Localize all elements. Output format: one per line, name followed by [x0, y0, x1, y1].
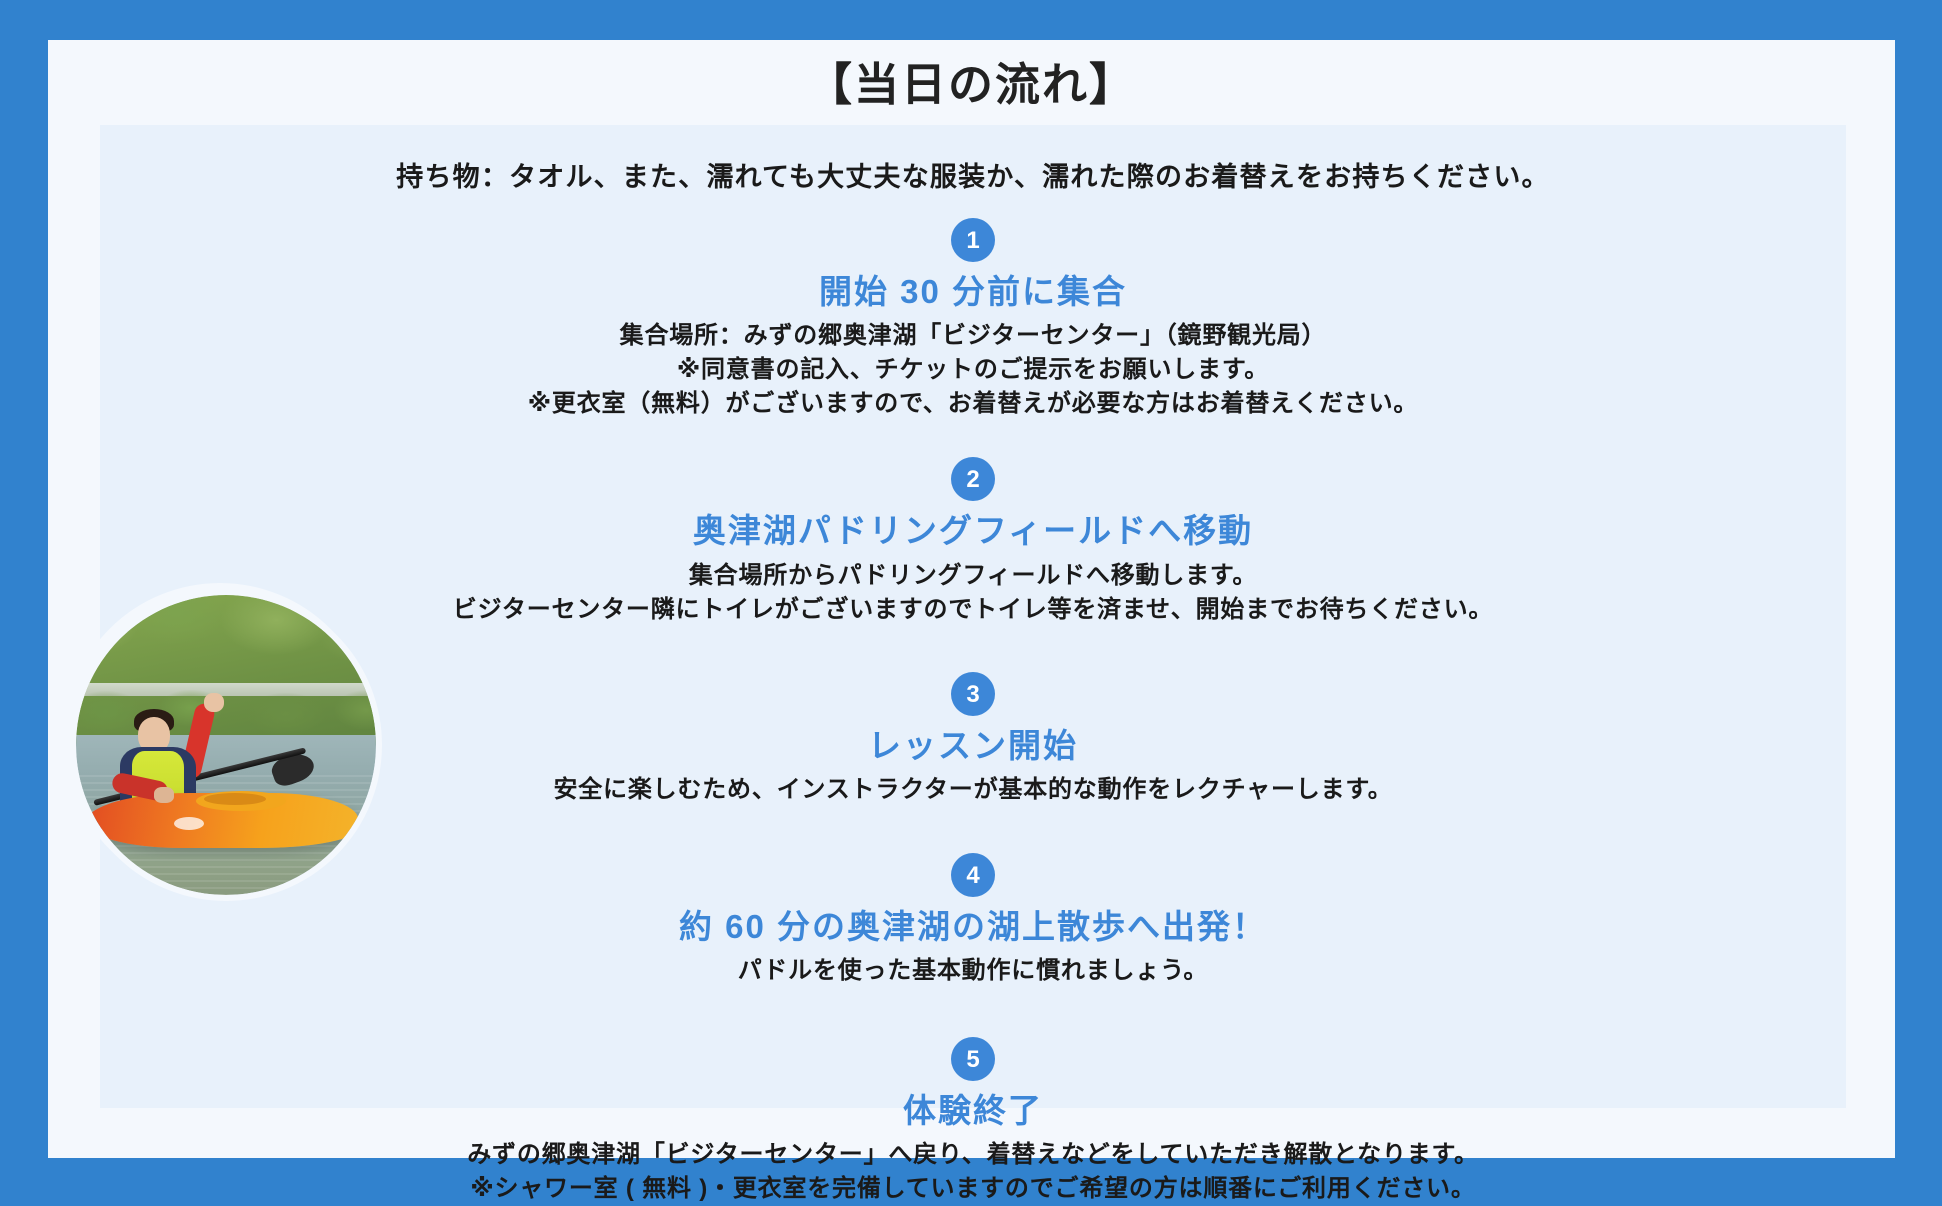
step-body-5: みずの郷奥津湖「ビジターセンター」へ戻り、着替えなどをしていただき解散となります… — [100, 1138, 1846, 1206]
kayak-photo — [70, 589, 382, 901]
step-number-badge-1: 1 — [951, 218, 995, 262]
photo-kayak-cockpit — [204, 793, 266, 805]
photo-kayak-logo — [174, 817, 204, 830]
step-number-badge-3: 3 — [951, 672, 995, 716]
photo-fist — [204, 693, 224, 712]
step-body-4: パドルを使った基本動作に慣れましょう。 — [100, 954, 1846, 988]
photo-hand — [154, 787, 174, 803]
step-heading-2: 奥津湖パドリングフィールドへ移動 — [100, 510, 1846, 551]
step-item-1: 1 開始 30 分前に集合 集合場所：みずの郷奥津湖「ビジターセンター」（鏡野観… — [100, 218, 1846, 421]
step-number-badge-4: 4 — [951, 853, 995, 897]
kayak-photo-inner — [76, 595, 376, 895]
step-body-1: 集合場所：みずの郷奥津湖「ビジターセンター」（鏡野観光局） ※同意書の記入、チケ… — [100, 319, 1846, 421]
outer-blue-frame: 【当日の流れ】 持ち物：タオル、また、濡れても大丈夫な服装か、濡れた際のお着替え… — [0, 0, 1942, 1200]
step-body-line: ※更衣室（無料）がございますので、お着替えが必要な方はお着替えください。 — [100, 387, 1846, 421]
step-body-line: みずの郷奥津湖「ビジターセンター」へ戻り、着替えなどをしていただき解散となります… — [100, 1138, 1846, 1172]
page-title: 【当日の流れ】 — [48, 40, 1895, 125]
intro-note: 持ち物：タオル、また、濡れても大丈夫な服装か、濡れた際のお着替えをお持ちください… — [100, 155, 1846, 194]
step-item-5: 5 体験終了 みずの郷奥津湖「ビジターセンター」へ戻り、着替えなどをしていただき… — [100, 1037, 1846, 1206]
step-body-line: ※シャワー室 ( 無料 )・更衣室を完備していますのでご希望の方は順番にご利用く… — [100, 1172, 1846, 1206]
step-heading-1: 開始 30 分前に集合 — [100, 271, 1846, 312]
step-heading-5: 体験終了 — [100, 1090, 1846, 1131]
step-body-line: 集合場所：みずの郷奥津湖「ビジターセンター」（鏡野観光局） — [100, 319, 1846, 353]
step-number-badge-5: 5 — [951, 1037, 995, 1081]
step-number-badge-2: 2 — [951, 457, 995, 501]
step-heading-4: 約 60 分の奥津湖の湖上散歩へ出発！ — [100, 906, 1846, 947]
step-body-line: ※同意書の記入、チケットのご提示をお願いします。 — [100, 353, 1846, 387]
step-body-line: パドルを使った基本動作に慣れましょう。 — [100, 954, 1846, 988]
step-body-line: 集合場所からパドリングフィールドへ移動します。 — [100, 559, 1846, 593]
